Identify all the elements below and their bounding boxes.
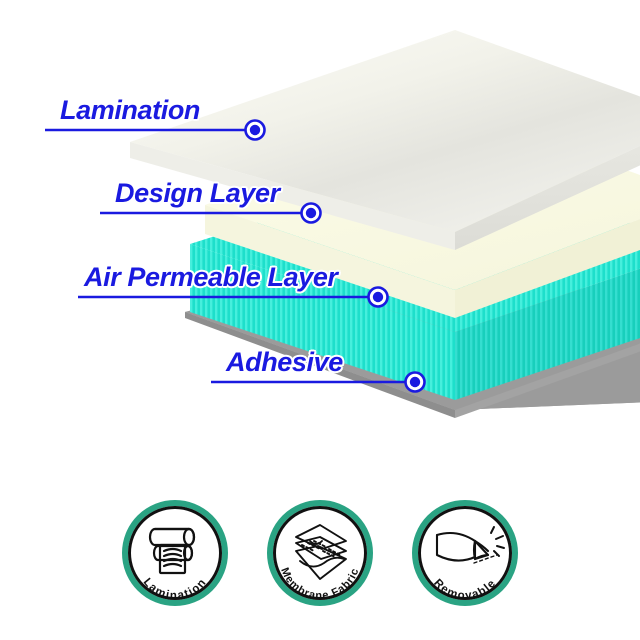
feature-badges: Lamination [0,0,640,640]
badge-membrane-fabric[interactable]: Membrane Fabric [266,499,374,607]
badge-lamination[interactable]: Lamination [121,499,229,607]
badge-removable[interactable]: Removable [411,499,519,607]
layer-diagram: Lamination Design Layer Air Permeable La… [0,0,640,640]
